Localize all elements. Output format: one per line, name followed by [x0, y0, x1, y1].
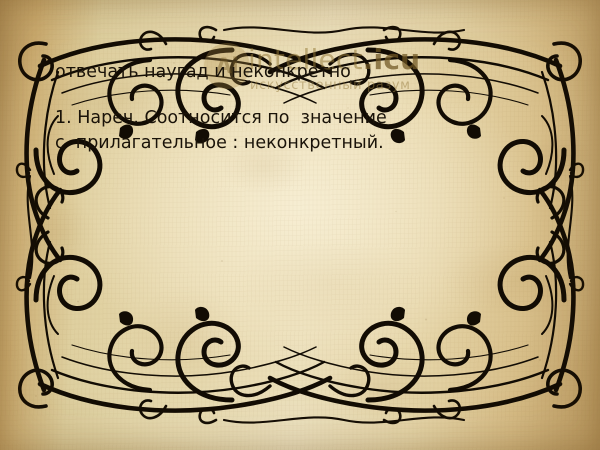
- definition-line: с прилагательное : неконкретный.: [55, 131, 515, 156]
- dictionary-entry: отвечать наугад и неконкретно 1. Нареч. …: [55, 62, 515, 156]
- edge-rule-left: [17, 164, 32, 291]
- parchment-card: Ai intellect.icu искусственный разум отв…: [0, 0, 600, 450]
- ornament-bottom-left: [20, 116, 369, 418]
- edge-rule-bottom: [200, 409, 464, 423]
- definition-line: 1. Нареч. Соотносится по значение: [55, 106, 515, 131]
- ornament-bottom-right: [231, 116, 580, 418]
- headword: отвечать наугад и неконкретно: [55, 62, 515, 84]
- edge-rule-top: [200, 27, 464, 41]
- definition-block: 1. Нареч. Соотносится по значение с прил…: [55, 106, 515, 156]
- edge-rule-right: [568, 164, 583, 291]
